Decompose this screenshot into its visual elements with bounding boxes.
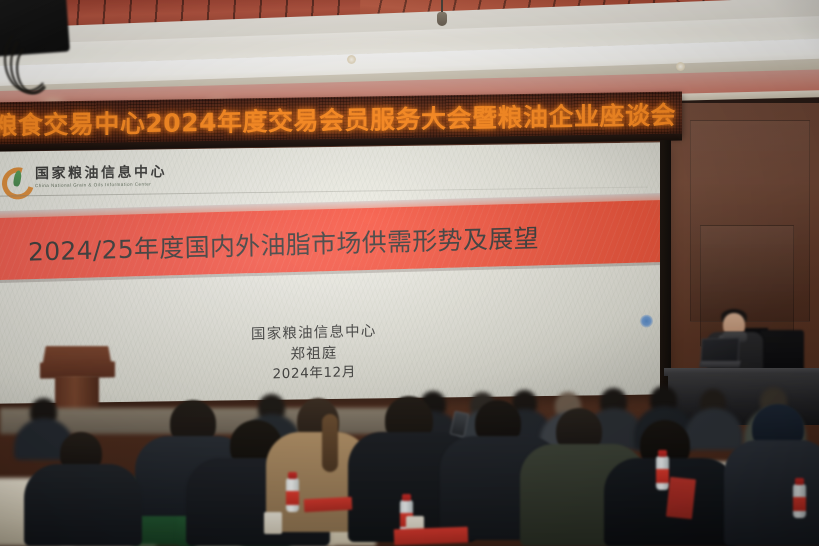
water-bottle — [656, 456, 669, 490]
screen-right-edge — [660, 140, 671, 406]
hanging-cable — [16, 42, 52, 94]
red-folder — [304, 497, 353, 512]
audience-shoulders — [24, 464, 142, 546]
ceiling-spot-icon — [676, 62, 685, 71]
conference-photo: 汉国家粮食交易中心2024年度交易会员服务大会暨粮油企业座谈会 国家粮油信息中心… — [0, 0, 819, 546]
water-bottle — [793, 484, 806, 518]
pendant-light-icon — [437, 12, 447, 26]
red-folder — [394, 527, 469, 546]
ceiling-spot-icon — [347, 55, 356, 64]
paper-cup — [264, 512, 282, 534]
laptop-base — [699, 361, 740, 368]
stage-chair — [760, 330, 804, 372]
red-folder — [666, 477, 696, 519]
podium-body — [55, 376, 99, 412]
water-bottle — [286, 478, 299, 512]
ponytail — [322, 414, 338, 472]
